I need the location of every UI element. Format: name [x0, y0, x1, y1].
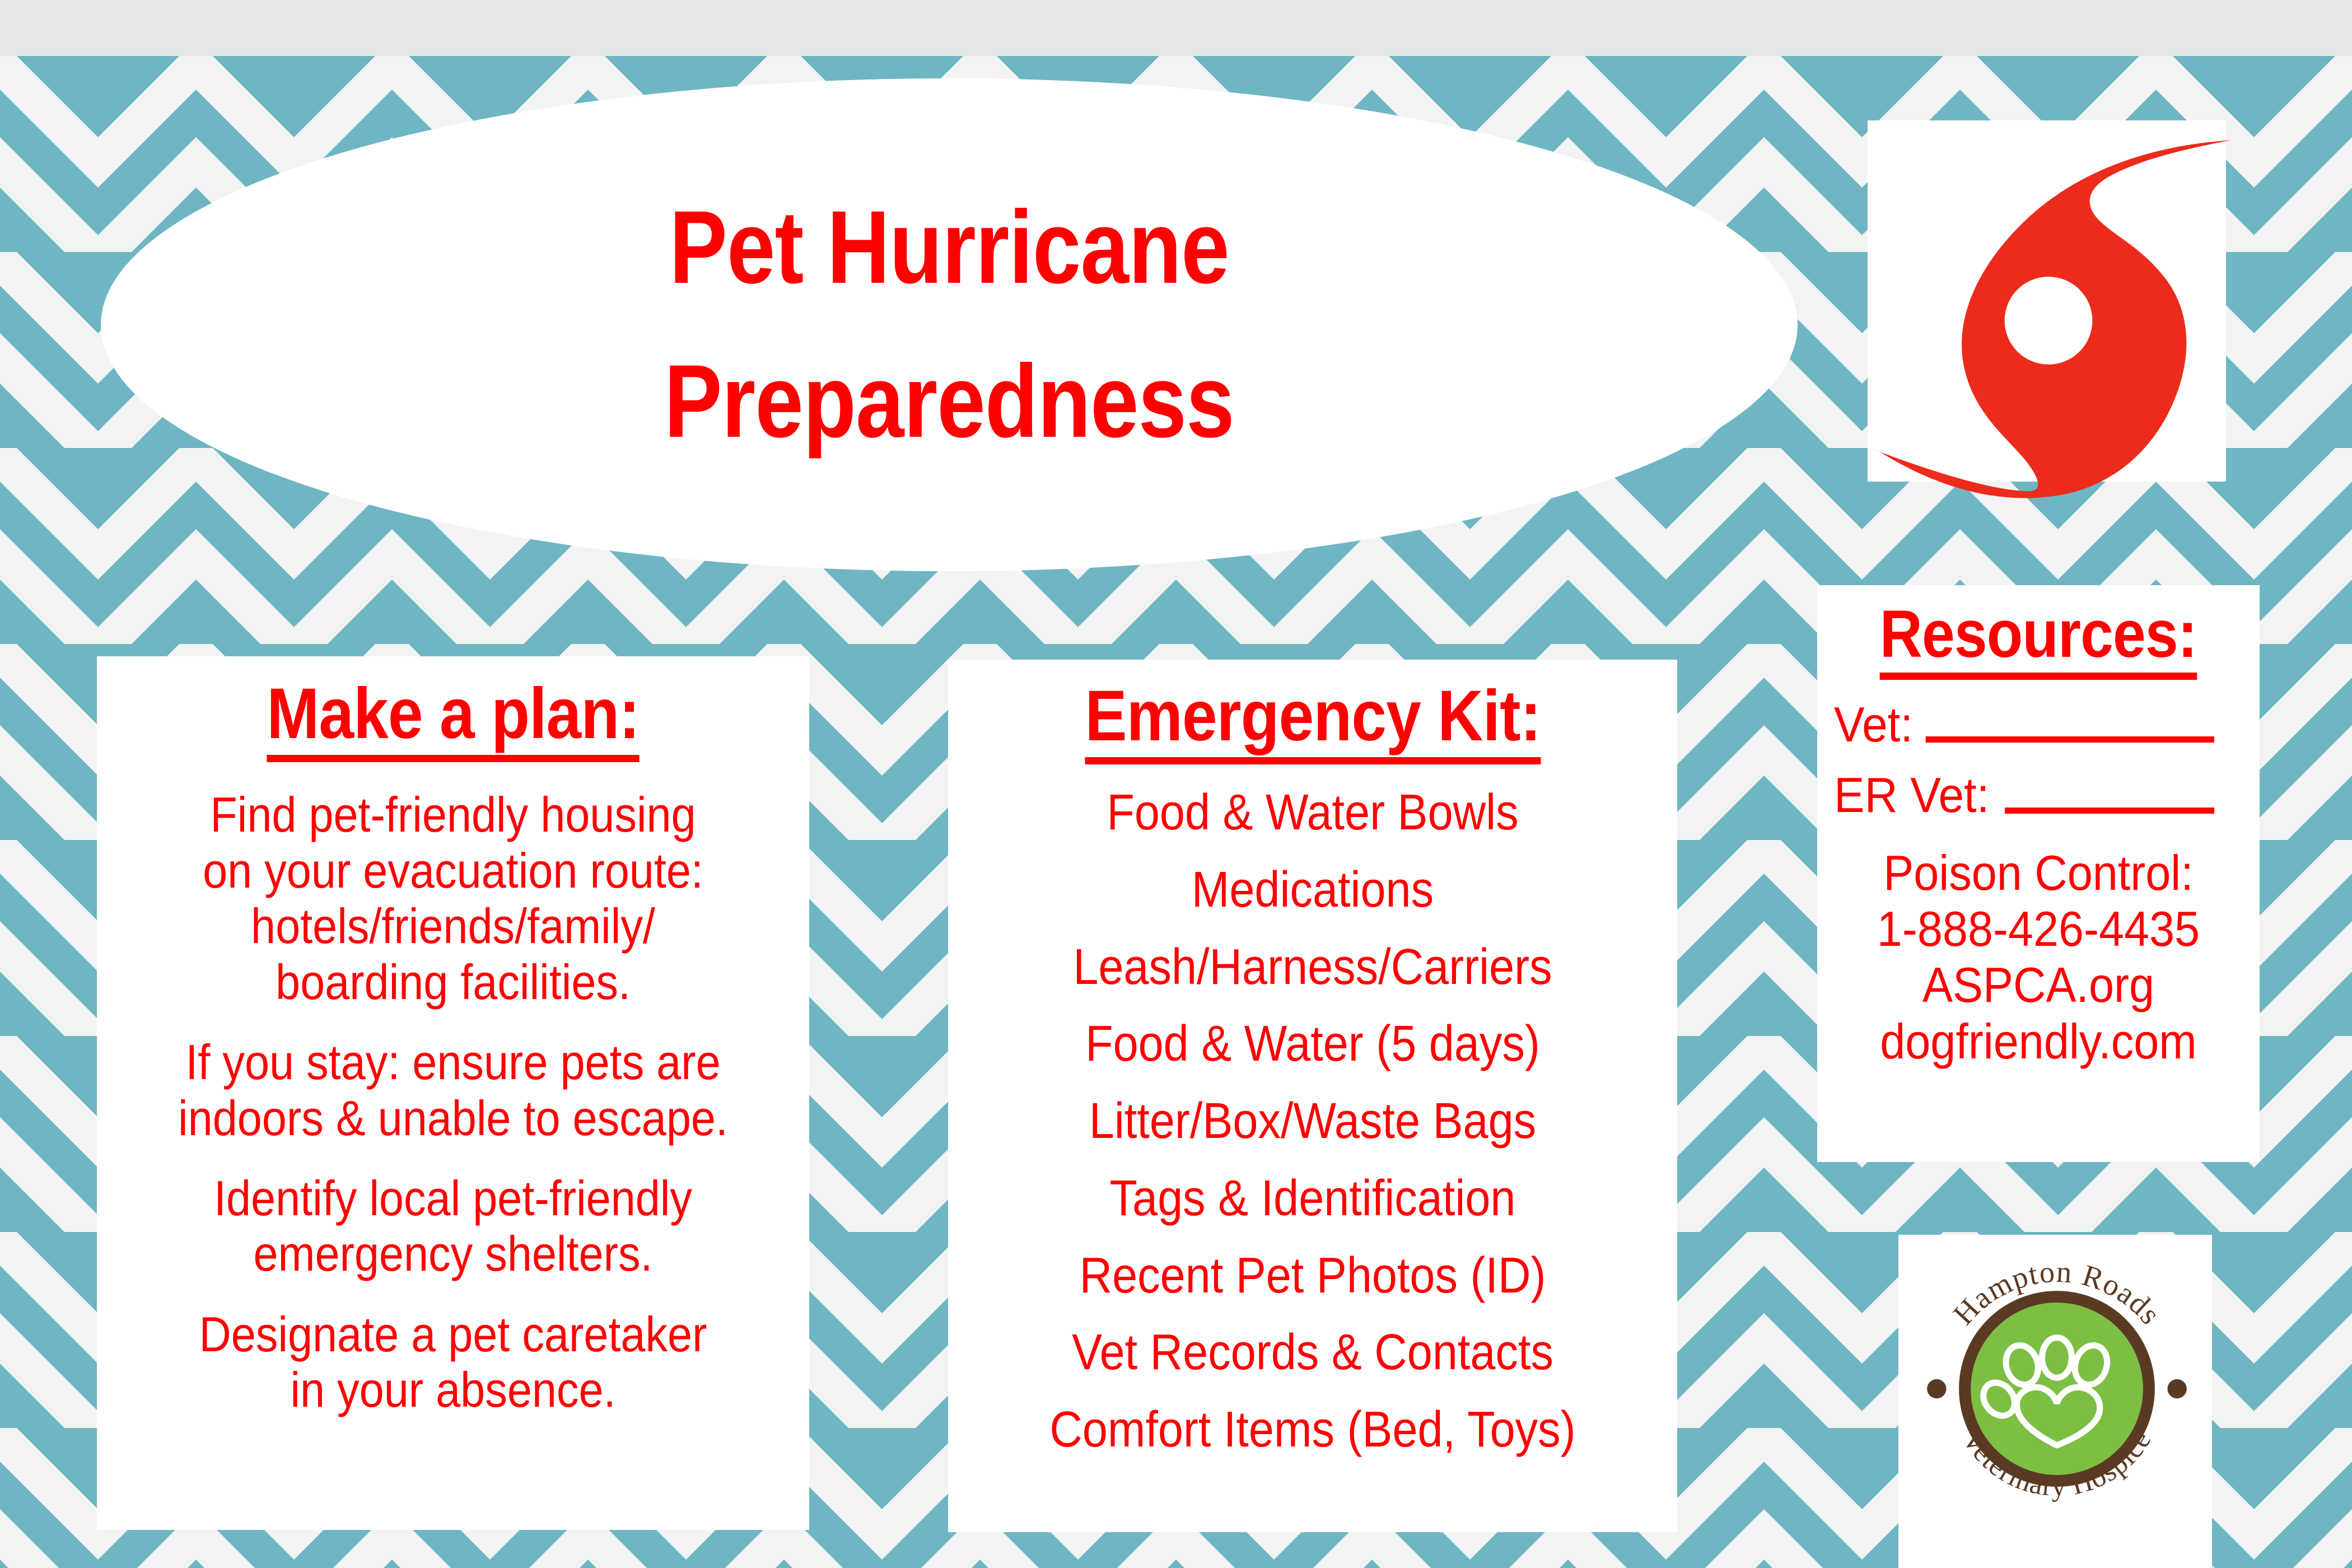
heading-underline [1085, 757, 1541, 764]
kit-list-item: Recent Pet Photos (ID) [998, 1248, 1628, 1305]
poster-title: Pet Hurricane Preparedness [101, 78, 1798, 571]
resources-heading: Resources: [1880, 599, 2197, 680]
kit-list-item: Tags & Identification [998, 1170, 1628, 1228]
logo-dot-left [1927, 1379, 1946, 1398]
plan-paragraph: If you stay: ensure pets are indoors & u… [150, 1034, 757, 1146]
make-a-plan-heading-text: Make a plan: [267, 674, 640, 754]
title-line-2: Preparedness [664, 350, 1234, 454]
emergency-kit-panel: Emergency Kit: Food & Water Bowls Medica… [948, 660, 1677, 1532]
logo-dot-right [2167, 1379, 2186, 1398]
resources-heading-text: Resources: [1880, 596, 2197, 671]
hurricane-symbol-icon [1848, 115, 2257, 507]
kit-list-item: Leash/Harness/Carriers [998, 939, 1628, 996]
hampton-roads-veterinary-hospice-logo: Hampton Roads Veterinary Hospice [1908, 1240, 2205, 1537]
make-a-plan-heading: Make a plan: [267, 676, 640, 762]
dogfriendly-website[interactable]: dogfriendly.com [1850, 1014, 2227, 1070]
kit-list-item: Vet Records & Contacts [998, 1324, 1628, 1382]
vet-fill-in-row[interactable]: Vet: [1834, 699, 2214, 750]
plan-paragraph: Find pet-friendly housing on your evacua… [150, 787, 757, 1010]
kit-list-item: Comfort Items (Bed, Toys) [998, 1402, 1628, 1459]
poison-control-label: Poison Control: [1850, 845, 2227, 901]
plan-paragraph: Designate a pet caretaker in your absenc… [150, 1306, 757, 1418]
emergency-kit-heading-text: Emergency Kit: [1085, 676, 1541, 756]
kit-list-item: Medications [998, 862, 1628, 919]
er-vet-blank-line[interactable] [2005, 808, 2214, 814]
kit-list-item: Food & Water Bowls [998, 785, 1628, 842]
poison-control-phone: 1-888-426-4435 [1850, 901, 2227, 957]
aspca-website[interactable]: ASPCA.org [1850, 957, 2227, 1013]
hurricane-symbol-svg [1848, 115, 2257, 507]
poster-root: Pet Hurricane Preparedness Make a plan: … [0, 0, 2352, 1568]
vet-blank-line[interactable] [1925, 736, 2214, 743]
make-a-plan-panel: Make a plan: Find pet-friendly housing o… [97, 656, 809, 1530]
resources-panel: Resources: Vet: ER Vet: Poison Control: … [1817, 585, 2260, 1162]
heading-underline [1880, 673, 2197, 680]
er-vet-label: ER Vet: [1834, 769, 1989, 821]
plan-paragraph: Identify local pet-friendly emergency sh… [150, 1170, 757, 1282]
vet-label: Vet: [1834, 699, 1913, 750]
kit-list-item: Litter/Box/Waste Bags [998, 1093, 1628, 1150]
heading-underline [267, 755, 640, 762]
er-vet-fill-in-row[interactable]: ER Vet: [1834, 769, 2214, 821]
emergency-kit-heading: Emergency Kit: [1085, 679, 1541, 764]
title-line-1: Pet Hurricane [669, 196, 1229, 300]
kit-list-item: Food & Water (5 days) [998, 1016, 1628, 1073]
logo-svg: Hampton Roads Veterinary Hospice [1908, 1240, 2205, 1537]
